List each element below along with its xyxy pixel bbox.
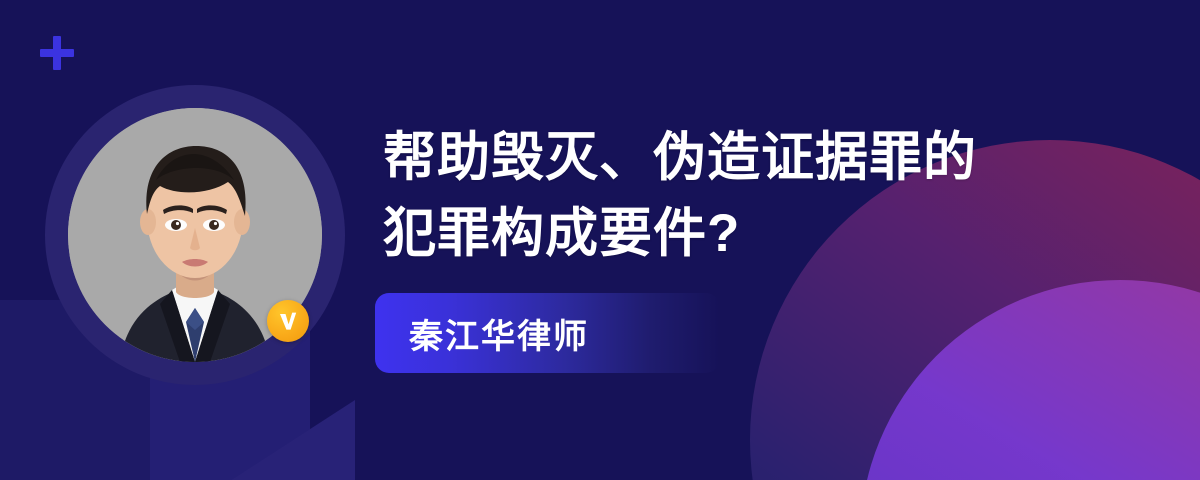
plus-icon <box>40 36 74 70</box>
headline-block: 帮助毁灭、伪造证据罪的 犯罪构成要件? <box>383 120 1083 272</box>
decor-triangle <box>185 400 355 480</box>
page-title: 帮助毁灭、伪造证据罪的 犯罪构成要件? <box>383 120 1083 272</box>
author-name-label: 秦江华律师 <box>375 309 589 358</box>
author-name-badge[interactable]: 秦江华律师 <box>375 293 720 373</box>
verified-v-icon <box>267 300 309 342</box>
article-cover-banner: 帮助毁灭、伪造证据罪的 犯罪构成要件? 秦江华律师 <box>0 0 1200 480</box>
avatar <box>45 85 345 385</box>
